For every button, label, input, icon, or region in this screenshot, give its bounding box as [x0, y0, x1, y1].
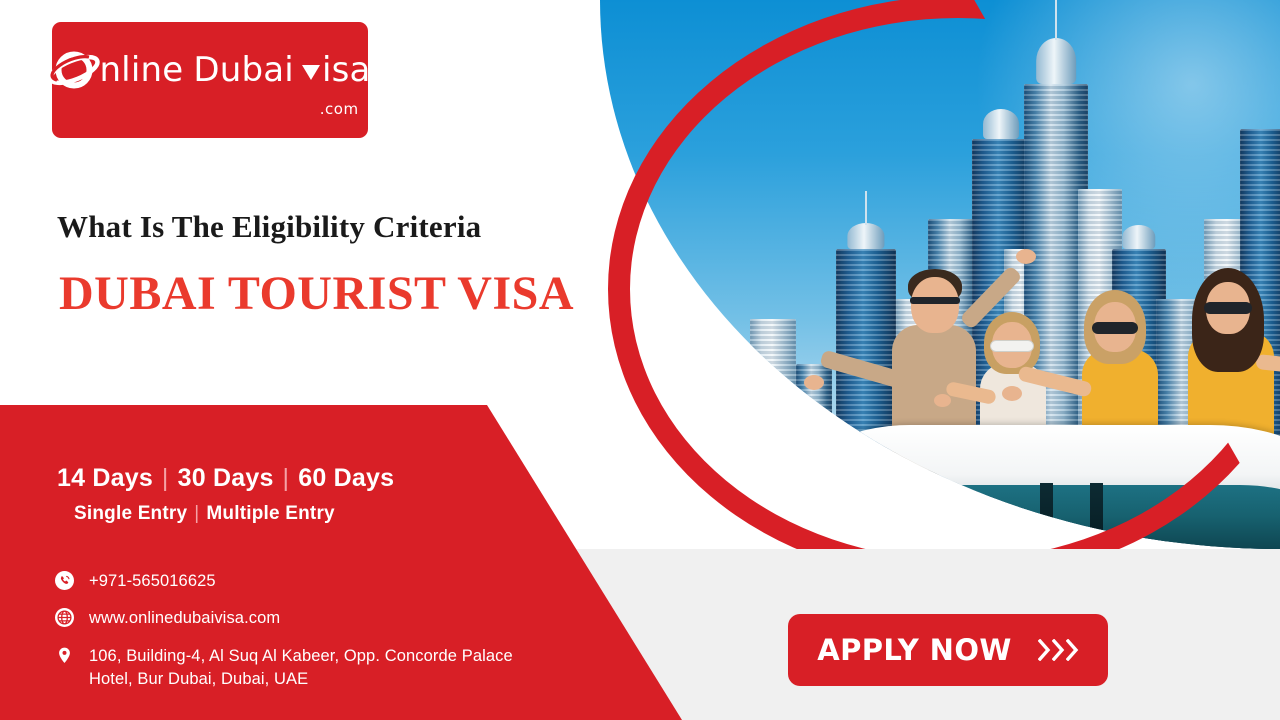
chevron-right-icon [1038, 639, 1051, 661]
car-antenna [808, 422, 821, 493]
young-girl-hand [934, 394, 951, 407]
offer-separator: | [162, 464, 169, 493]
contact-row-website[interactable]: www.onlinedubaivisa.com [55, 607, 549, 630]
skyline-tower [796, 364, 832, 549]
tower-cap [983, 109, 1019, 139]
tower-spire [865, 191, 867, 225]
contact-address-text: 106, Building-4, Al Suq Al Kabeer, Opp. … [89, 645, 549, 692]
car-roof [790, 425, 1280, 549]
entry-single: Single Entry [74, 503, 187, 525]
v-check-icon [302, 65, 320, 80]
hero-photo-mask [600, 0, 1280, 549]
logo-text-dotcom: .com [320, 102, 359, 117]
brand-logo[interactable]: nline Dubai isa .com [52, 22, 368, 138]
tower-spire [1055, 0, 1057, 40]
page-title: DUBAI TOURIST VISA [59, 266, 574, 321]
poster-canvas: nline Dubai isa .com What Is The Eligibi… [0, 0, 1280, 720]
contact-phone-text: +971-565016625 [89, 570, 216, 593]
globe-icon [55, 608, 74, 627]
offer-entries: Single Entry | Multiple Entry [74, 503, 335, 525]
contact-block: +971-565016625 www.onlinedubaivisa.com [55, 570, 549, 692]
location-pin-icon [55, 646, 74, 665]
brand-logo-inner: nline Dubai isa .com [49, 44, 370, 117]
duration-14-days: 14 Days [57, 464, 153, 493]
tower-cap [1036, 38, 1076, 84]
man-hand-left [804, 375, 824, 390]
hero-photo [600, 0, 1280, 549]
offer-separator: | [283, 464, 290, 493]
skyline-tower [750, 319, 796, 549]
logo-text-visa: isa [322, 53, 371, 87]
entry-multiple: Multiple Entry [206, 503, 334, 525]
older-girl-sunglasses [1092, 322, 1138, 334]
logo-text-dubai: Dubai [193, 53, 294, 87]
tower-cap [1122, 225, 1155, 249]
brand-logo-wordmark: nline Dubai isa [49, 44, 370, 96]
man-sunglasses [910, 297, 960, 304]
offer-durations: 14 Days | 30 Days | 60 Days [57, 464, 394, 493]
contact-row-phone[interactable]: +971-565016625 [55, 570, 549, 593]
phone-icon [55, 571, 74, 590]
saturn-planet-icon [49, 44, 101, 96]
offer-separator: | [194, 503, 199, 525]
apply-now-button[interactable]: APPLY NOW [788, 614, 1108, 686]
older-girl-hand [1002, 386, 1022, 401]
triple-chevron-right-icon [1038, 639, 1079, 661]
car-pillar [1090, 483, 1103, 549]
apply-now-label: APPLY NOW [817, 633, 1012, 667]
duration-60-days: 60 Days [298, 464, 394, 493]
woman-sunglasses [1204, 302, 1252, 314]
man-hand-right [1016, 249, 1036, 264]
tower-cap [847, 223, 884, 249]
car-pillar [1040, 483, 1053, 549]
chevron-right-icon [1066, 639, 1079, 661]
contact-row-address: 106, Building-4, Al Suq Al Kabeer, Opp. … [55, 645, 549, 692]
contact-website-text: www.onlinedubaivisa.com [89, 607, 280, 630]
logo-text-online: nline [99, 53, 183, 87]
duration-30-days: 30 Days [178, 464, 274, 493]
young-girl-sunglasses [990, 340, 1034, 352]
kicker-text: What Is The Eligibility Criteria [57, 209, 481, 245]
chevron-right-icon [1052, 639, 1065, 661]
